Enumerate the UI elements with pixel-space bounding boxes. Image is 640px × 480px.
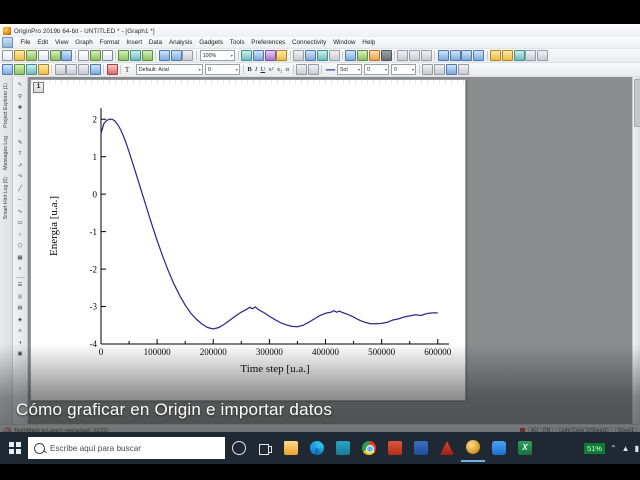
arrange-layers-icon[interactable]: [55, 64, 66, 75]
search-placeholder: Escribe aquí para buscar: [50, 444, 141, 453]
font-name-select[interactable]: Default: Arial ▾: [136, 64, 203, 75]
copy-format-icon-glyph: [345, 50, 356, 61]
layer-manage-icon[interactable]: [26, 64, 37, 75]
menu-gadgets[interactable]: Gadgets: [196, 39, 227, 46]
menu-window[interactable]: Window: [330, 39, 359, 46]
data-reader-icon[interactable]: [490, 50, 501, 61]
x-tick-label: 400000: [312, 347, 340, 357]
toolbar-separator: [293, 65, 294, 74]
first-data-icon[interactable]: [438, 50, 449, 61]
x-axis-icon-glyph: [397, 50, 408, 61]
windows-start-icon[interactable]: [4, 435, 26, 461]
open-project-icon-glyph: [102, 50, 113, 61]
toolbar-separator: [155, 51, 156, 60]
y-tick-label: -2: [90, 264, 98, 274]
next-data-icon-glyph: [461, 50, 472, 61]
mdi-client-area: 1 0100000200000300000400000500000600000 …: [28, 77, 640, 424]
new-graph-icon[interactable]: [38, 50, 49, 61]
legend-icon[interactable]: [276, 50, 287, 61]
menu-tools[interactable]: Tools: [226, 39, 247, 46]
new-excel-icon-glyph: [90, 50, 101, 61]
toolbar-separator: [120, 65, 121, 74]
new-matrix-icon[interactable]: [50, 50, 61, 61]
line-style-value: Sol: [340, 67, 348, 73]
layer-add-icon[interactable]: [14, 64, 25, 75]
menu-data[interactable]: Data: [145, 39, 165, 46]
video-caption: Cómo graficar en Origin e importar datos: [0, 400, 640, 420]
add-text-icon[interactable]: [293, 50, 304, 61]
network-icon[interactable]: ▲: [622, 444, 630, 453]
font-name-label-icon: T: [123, 64, 134, 75]
copy-format-icon[interactable]: [345, 50, 356, 61]
autocad-icon[interactable]: [435, 435, 459, 461]
refresh-icon-glyph: [241, 50, 252, 61]
curved-arrow-tool-icon[interactable]: ↷: [15, 172, 25, 182]
align-center-icon[interactable]: [78, 64, 89, 75]
last-data-icon-glyph: [473, 50, 484, 61]
menu-view[interactable]: View: [52, 39, 72, 46]
toolbar-separator: [196, 51, 197, 60]
excel-icon[interactable]: X: [513, 435, 537, 461]
x-tick-label: 0: [99, 347, 104, 357]
toolbar-separator: [75, 51, 76, 60]
print-icon[interactable]: [182, 50, 193, 61]
x-tick-label: 200000: [200, 347, 228, 357]
import-single-ascii-icon-glyph: [142, 50, 153, 61]
task-view-icon[interactable]: [253, 435, 277, 461]
new-notes-icon[interactable]: [78, 50, 89, 61]
excel-glyph: X: [518, 441, 532, 455]
text-tool-icon[interactable]: T: [15, 149, 25, 159]
open-excel-icon-glyph: [118, 50, 129, 61]
polyline-tool-icon[interactable]: ⌐: [15, 195, 25, 205]
magnify-tool-icon[interactable]: ⚲: [15, 92, 25, 102]
graph1-window[interactable]: 1 0100000200000300000400000500000600000 …: [30, 79, 466, 401]
toolbar-separator: [103, 65, 104, 74]
x-tick-label: 300000: [256, 347, 284, 357]
menu-insert[interactable]: Insert: [123, 39, 146, 46]
battery-percent-badge[interactable]: 51%: [584, 443, 605, 454]
line-style-select[interactable]: Sol ▾: [337, 64, 362, 75]
add-text-icon-glyph: [293, 50, 304, 61]
y-axis-icon[interactable]: [409, 50, 420, 61]
screen-reader-icon-glyph: [502, 50, 513, 61]
file-explorer-icon[interactable]: [279, 435, 303, 461]
pattern-fill-icon[interactable]: [422, 64, 433, 75]
gradient-icon[interactable]: ▤: [15, 303, 25, 313]
zoom-out-icon[interactable]: [537, 50, 548, 61]
greek-button[interactable]: α: [284, 66, 291, 73]
layer-contents-icon[interactable]: [329, 50, 340, 61]
superscript-button[interactable]: x²: [267, 66, 275, 73]
system-menu-icon[interactable]: [2, 37, 13, 48]
new-workbook-icon[interactable]: [26, 50, 37, 61]
menu-format[interactable]: Format: [96, 39, 123, 46]
duplicate-icon[interactable]: [265, 50, 276, 61]
decrease-font-icon[interactable]: [308, 64, 319, 75]
windows-taskbar: Escribe aquí para buscar X 51% ⌃ ▲ ▮: [0, 432, 640, 464]
data-reader-tool-icon[interactable]: ✚: [15, 103, 25, 113]
clear-mask-icon[interactable]: [458, 64, 469, 75]
pattern-icon[interactable]: ◎: [15, 292, 25, 302]
data-selector-tool-icon[interactable]: ↕: [15, 126, 25, 136]
color-palette-icon[interactable]: ☰: [15, 280, 25, 290]
new-excel-icon[interactable]: [90, 50, 101, 61]
dock-tab-smart-hint-log[interactable]: Smart Hint Log (0): [3, 173, 9, 223]
y-tick-label: -1: [90, 227, 98, 237]
new-project-icon[interactable]: [2, 50, 13, 61]
window-titlebar: OriginPro 2019b 64-bit - UNTITLED * - [G…: [0, 24, 640, 37]
rescale-icon[interactable]: [253, 50, 264, 61]
toolbar-separator: [321, 65, 322, 74]
font-size-value: 0: [208, 67, 211, 73]
new-matrix-icon-glyph: [50, 50, 61, 61]
menu-graph[interactable]: Graph: [72, 39, 96, 46]
paste-format-icon[interactable]: [357, 50, 368, 61]
chevron-down-icon: ▾: [412, 67, 414, 72]
draw-data-tool-icon[interactable]: ✎: [15, 138, 25, 148]
open-excel-icon[interactable]: [118, 50, 129, 61]
next-data-icon[interactable]: [461, 50, 472, 61]
new-layout-icon-glyph: [61, 50, 72, 61]
toolbar-separator: [434, 51, 435, 60]
x-axis-title[interactable]: Time step [u.a.]: [240, 363, 309, 375]
fill-value: 0: [394, 67, 397, 73]
zoom-app-icon[interactable]: [487, 435, 511, 461]
chevron-down-icon: ▾: [199, 67, 201, 72]
show-hidden-icons-icon[interactable]: ⌃: [610, 444, 617, 453]
vertical-scrollbar[interactable]: [632, 77, 640, 424]
import-single-ascii-icon[interactable]: [142, 50, 153, 61]
scrollbar-thumb[interactable]: [634, 79, 640, 127]
line-tool-icon[interactable]: ╱: [15, 184, 25, 194]
y-tick-label: 1: [93, 152, 98, 162]
group-objects-icon[interactable]: [90, 64, 101, 75]
window-title: OriginPro 2019b 64-bit - UNTITLED * - [G…: [14, 28, 155, 35]
zoom-in-icon-glyph: [525, 50, 536, 61]
extract-graph-icon[interactable]: [317, 50, 328, 61]
new-layout-icon[interactable]: [61, 50, 72, 61]
page-ruler: [31, 80, 465, 84]
x-tick-label: 100000: [144, 347, 172, 357]
subscript-button[interactable]: x₂: [275, 66, 284, 73]
svg-text:T: T: [125, 66, 130, 74]
menu-analysis[interactable]: Analysis: [166, 39, 196, 46]
format-toolbar: T Default: Arial ▾ 0 ▾ B I U x² x₂ α: [0, 63, 640, 77]
font-name-value: Default: Arial: [139, 67, 169, 73]
y-tick-label: 0: [93, 189, 98, 199]
system-tray: 51% ⌃ ▲ ▮: [584, 443, 640, 454]
y-tick-label: -3: [90, 302, 98, 312]
arrow-tool-icon[interactable]: ↗: [15, 161, 25, 171]
originpro-window: OriginPro 2019b 64-bit - UNTITLED * - [G…: [0, 24, 640, 432]
line-width-value: 0: [367, 67, 370, 73]
google-chrome-icon[interactable]: [357, 435, 381, 461]
menu-bar: File Edit View Graph Format Insert Data …: [0, 37, 640, 49]
line-width-select[interactable]: 0 ▾: [364, 64, 389, 75]
menu-file[interactable]: File: [17, 39, 34, 46]
y-tick-label: -4: [90, 339, 98, 349]
rectangle-tool-icon[interactable]: ▭: [15, 218, 25, 228]
scale-in-tool-icon[interactable]: ⌕: [15, 264, 25, 274]
pointer-tool-icon[interactable]: ↖: [15, 80, 25, 90]
origin-logo-icon: [3, 27, 11, 35]
refresh-icon[interactable]: [241, 50, 252, 61]
dock-tab-messages-log[interactable]: Messages Log: [3, 132, 9, 174]
toolbar-separator: [394, 51, 395, 60]
first-data-icon-glyph: [438, 50, 449, 61]
save-template-icon-glyph: [171, 50, 182, 61]
toolbar-separator: [243, 65, 244, 74]
send-graph-icon[interactable]: [381, 50, 392, 61]
bold-button[interactable]: B: [246, 66, 254, 73]
save-template-icon[interactable]: [171, 50, 182, 61]
y-tick-label: 2: [93, 114, 98, 124]
dock-tab-project-explorer[interactable]: Project Explorer (1): [3, 79, 9, 132]
chevron-down-icon: ▾: [236, 67, 238, 72]
theme-icon[interactable]: ◑: [15, 338, 25, 348]
toolbar-separator: [238, 51, 239, 60]
volume-icon[interactable]: ▮: [635, 444, 639, 453]
toolbar-separator: [419, 65, 420, 74]
merge-graph-icon-glyph: [305, 50, 316, 61]
data-reader-icon-glyph: [490, 50, 501, 61]
zoom-out-icon-glyph: [537, 50, 548, 61]
export-graph-icon-glyph: [369, 50, 380, 61]
menu-edit[interactable]: Edit: [34, 39, 52, 46]
paste-format-icon-glyph: [357, 50, 368, 61]
x-tick-label: 600000: [424, 347, 452, 357]
toolbar-separator: [342, 51, 343, 60]
toolbar-separator: [290, 51, 291, 60]
graph-plot[interactable]: 0100000200000300000400000500000600000 -4…: [31, 86, 465, 398]
screen: OriginPro 2019b 64-bit - UNTITLED * - [G…: [0, 0, 640, 480]
search-icon: [34, 443, 45, 454]
x-tick-label: 500000: [368, 347, 396, 357]
font-color-icon[interactable]: [107, 64, 118, 75]
line-style-icon[interactable]: ≡: [15, 326, 25, 336]
new-folder-icon-glyph: [14, 50, 25, 61]
import-wizard-icon-glyph: [130, 50, 141, 61]
freehand-tool-icon[interactable]: ∿: [15, 207, 25, 217]
microsoft-store-icon[interactable]: [331, 435, 355, 461]
line-style-preview-icon: [325, 64, 336, 75]
duplicate-icon-glyph: [265, 50, 276, 61]
data-series-energia[interactable]: [101, 119, 438, 329]
screen-reader-icon[interactable]: [502, 50, 513, 61]
mask-icon[interactable]: [446, 64, 457, 75]
new-graph-icon-glyph: [38, 50, 49, 61]
new-project-icon-glyph: [2, 50, 13, 61]
zoom-level-select[interactable]: 100%▾: [200, 50, 235, 61]
extract-graph-icon-glyph: [317, 50, 328, 61]
data-selector-icon[interactable]: [514, 50, 525, 61]
video-letterbox-top: [0, 0, 640, 24]
data-selector-icon-glyph: [514, 50, 525, 61]
open-project-icon[interactable]: [102, 50, 113, 61]
status-bar: Text(Attach to Layer); row(actual): 22(2…: [0, 424, 640, 432]
cortana-icon[interactable]: [227, 435, 251, 461]
y-axis-icon-glyph: [409, 50, 420, 61]
menu-preferences[interactable]: Preferences: [248, 39, 289, 46]
send-graph-icon-glyph: [381, 50, 392, 61]
underline-button[interactable]: U: [259, 66, 267, 73]
last-data-icon[interactable]: [473, 50, 484, 61]
symbol-icon[interactable]: ◈: [15, 315, 25, 325]
standard-toolbar: 100%▾: [0, 49, 640, 63]
align-left-icon[interactable]: [66, 64, 77, 75]
taskbar-search-input[interactable]: Escribe aquí para buscar: [28, 437, 225, 459]
chevron-down-icon: ▾: [358, 67, 360, 72]
office-icon[interactable]: [383, 435, 407, 461]
new-workbook-icon-glyph: [26, 50, 37, 61]
toolbar-separator: [487, 51, 488, 60]
layer-contents-icon-glyph: [329, 50, 340, 61]
z-axis-icon-glyph: [421, 50, 432, 61]
screen-reader-tool-icon[interactable]: ⌖: [15, 115, 25, 125]
palette-separator: [16, 277, 25, 278]
x-axis-icon[interactable]: [397, 50, 408, 61]
increase-font-icon[interactable]: [296, 64, 307, 75]
export-graph-icon[interactable]: [369, 50, 380, 61]
new-notes-icon-glyph: [78, 50, 89, 61]
grid-style-icon[interactable]: ▣: [15, 349, 25, 359]
graph-tools-palette: ↖⚲✚⌖↕✎T↗↷╱⌐∿▭○⬠▦⌕☰◎▤◈≡◑▣: [13, 77, 28, 424]
speed-mode-icon[interactable]: [38, 64, 49, 75]
menu-help[interactable]: Help: [359, 39, 379, 46]
merge-graph-icon[interactable]: [305, 50, 316, 61]
region-tool-icon[interactable]: ▦: [15, 253, 25, 263]
left-dock-tabs: Project Explorer (1) Messages Log Smart …: [0, 77, 13, 424]
y-axis-title[interactable]: Energía [u.a.]: [48, 196, 60, 256]
legend-icon-glyph: [276, 50, 287, 61]
word-icon[interactable]: [409, 435, 433, 461]
menu-connectivity[interactable]: Connectivity: [289, 39, 330, 46]
z-axis-icon[interactable]: [421, 50, 432, 61]
microsoft-edge-icon[interactable]: [305, 435, 329, 461]
zoom-in-icon[interactable]: [525, 50, 536, 61]
polygon-tool-icon[interactable]: ⬠: [15, 241, 25, 251]
print-icon-glyph: [182, 50, 193, 61]
origin-app-icon[interactable]: [461, 434, 485, 462]
circle-tool-icon[interactable]: ○: [15, 230, 25, 240]
chevron-down-icon: ▾: [385, 67, 387, 72]
save-project-icon[interactable]: [159, 50, 170, 61]
save-project-icon-glyph: [159, 50, 170, 61]
prev-data-icon-glyph: [450, 50, 461, 61]
toolbar-separator: [115, 51, 116, 60]
font-size-select[interactable]: 0 ▾: [205, 64, 240, 75]
plot-setup-icon[interactable]: [2, 64, 13, 75]
grid-toggle-icon[interactable]: [434, 64, 445, 75]
windows-logo-icon: [9, 442, 21, 454]
rescale-icon-glyph: [253, 50, 264, 61]
chevron-down-icon: ▾: [231, 53, 233, 58]
import-wizard-icon[interactable]: [130, 50, 141, 61]
new-folder-icon[interactable]: [14, 50, 25, 61]
toolbar-separator: [51, 65, 52, 74]
work-area: Project Explorer (1) Messages Log Smart …: [0, 77, 640, 424]
fill-select[interactable]: 0 ▾: [391, 64, 416, 75]
video-letterbox-bottom: [0, 464, 640, 480]
prev-data-icon[interactable]: [450, 50, 461, 61]
zoom-level-value: 100%: [203, 53, 217, 59]
